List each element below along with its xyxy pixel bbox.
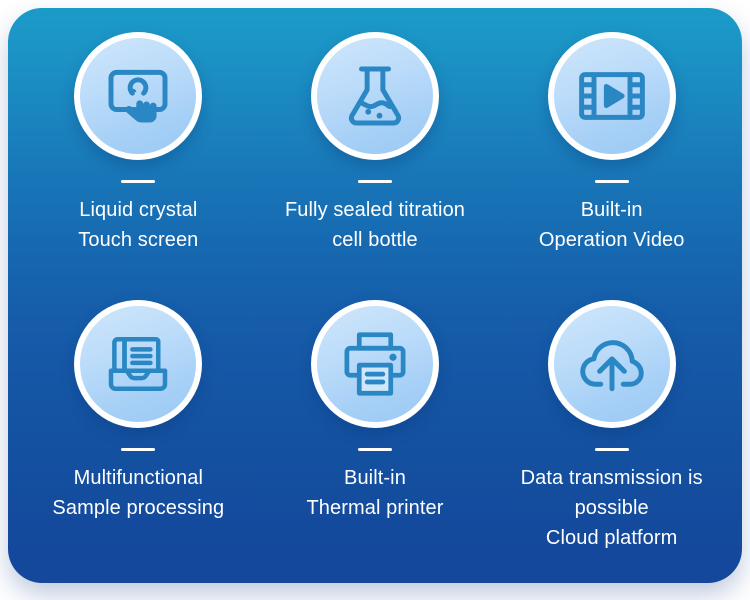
feature-card-touchscreen[interactable]: Liquid crystal Touch screen xyxy=(20,32,257,292)
feature-caption: Built-in Thermal printer xyxy=(304,463,445,523)
feature-card-operation-video[interactable]: Built-in Operation Video xyxy=(493,32,730,292)
touchscreen-icon xyxy=(102,60,174,132)
feature-caption: Built-in Operation Video xyxy=(537,195,687,255)
caption-divider xyxy=(358,448,392,451)
cloud-upload-icon xyxy=(576,328,648,400)
badge-face xyxy=(317,38,433,154)
feature-icon-badge xyxy=(548,300,676,428)
caption-divider xyxy=(595,448,629,451)
feature-icon-badge xyxy=(74,32,202,160)
badge-face xyxy=(554,38,670,154)
feature-card-sample-processing[interactable]: Multifunctional Sample processing xyxy=(20,292,257,573)
printer-icon xyxy=(339,328,411,400)
feature-caption: Fully sealed titration cell bottle xyxy=(283,195,467,255)
feature-icon-badge xyxy=(548,32,676,160)
feature-caption: Liquid crystal Touch screen xyxy=(76,195,200,255)
feature-caption: Multifunctional Sample processing xyxy=(50,463,226,523)
caption-divider xyxy=(595,180,629,183)
badge-face xyxy=(554,306,670,422)
caption-divider xyxy=(358,180,392,183)
caption-divider xyxy=(121,180,155,183)
video-film-icon xyxy=(576,60,648,132)
caption-divider xyxy=(121,448,155,451)
badge-face xyxy=(317,306,433,422)
feature-icon-badge xyxy=(311,300,439,428)
feature-card-titration-cell[interactable]: Fully sealed titration cell bottle xyxy=(257,32,494,292)
feature-icon-badge xyxy=(311,32,439,160)
feature-icon-badge xyxy=(74,300,202,428)
feature-card-thermal-printer[interactable]: Built-in Thermal printer xyxy=(257,292,494,573)
feature-caption: Data transmission is possible Cloud plat… xyxy=(519,463,705,553)
feature-card-cloud-platform[interactable]: Data transmission is possible Cloud plat… xyxy=(493,292,730,573)
document-tray-icon xyxy=(102,328,174,400)
badge-face xyxy=(80,38,196,154)
badge-face xyxy=(80,306,196,422)
feature-panel: Liquid crystal Touch screen Fully sealed… xyxy=(8,8,742,583)
flask-icon xyxy=(339,60,411,132)
feature-grid: Liquid crystal Touch screen Fully sealed… xyxy=(8,8,742,583)
